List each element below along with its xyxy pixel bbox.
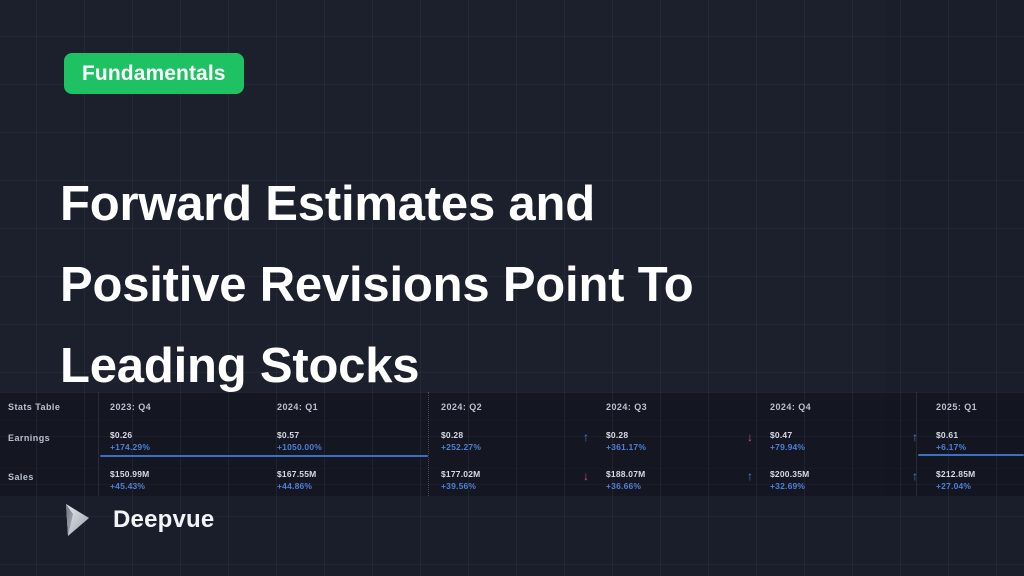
cell-change: +252.27% bbox=[441, 442, 481, 454]
cell-change: +44.86% bbox=[277, 481, 316, 493]
cell-value: $0.26 bbox=[110, 430, 150, 442]
column-divider bbox=[98, 392, 99, 496]
stats-top-divider bbox=[0, 392, 1024, 393]
cell-earnings-2024-q2: $0.28 +252.27% bbox=[441, 430, 481, 453]
arrow-down-icon-earnings-2024-q4: ↓ bbox=[747, 431, 753, 443]
arrow-up-icon-earnings-2025-q1: ↑ bbox=[912, 431, 918, 443]
cell-value: $167.55M bbox=[277, 469, 316, 481]
deepvue-paper-plane-icon bbox=[58, 500, 98, 540]
arrow-up-icon-earnings-2024-q3: ↑ bbox=[583, 431, 589, 443]
col-header-2024-q1: 2024: Q1 bbox=[277, 402, 318, 412]
cell-value: $150.99M bbox=[110, 469, 149, 481]
col-header-2024-q4: 2024: Q4 bbox=[770, 402, 811, 412]
cell-change: +361.17% bbox=[606, 442, 646, 454]
cell-value: $0.61 bbox=[936, 430, 966, 442]
cell-value: $0.57 bbox=[277, 430, 322, 442]
cell-value: $0.28 bbox=[606, 430, 646, 442]
page-title: Forward Estimates and Positive Revisions… bbox=[60, 164, 940, 407]
stats-table-title: Stats Table bbox=[8, 402, 60, 412]
stats-table-panel bbox=[0, 392, 1024, 496]
cell-change: +174.29% bbox=[110, 442, 150, 454]
cell-earnings-2024-q3: $0.28 +361.17% bbox=[606, 430, 646, 453]
col-header-2024-q2: 2024: Q2 bbox=[441, 402, 482, 412]
cell-change: +6.17% bbox=[936, 442, 966, 454]
cell-earnings-2024-q1: $0.57 +1050.00% bbox=[277, 430, 322, 453]
cell-sales-2024-q3: $188.07M +36.66% bbox=[606, 469, 645, 492]
cell-earnings-2025-q1: $0.61 +6.17% bbox=[936, 430, 966, 453]
cell-value: $188.07M bbox=[606, 469, 645, 481]
col-header-2025-q1: 2025: Q1 bbox=[936, 402, 977, 412]
cell-change: +39.56% bbox=[441, 481, 480, 493]
cell-change: +45.43% bbox=[110, 481, 149, 493]
cell-change: +32.69% bbox=[770, 481, 809, 493]
category-badge[interactable]: Fundamentals bbox=[64, 53, 244, 94]
cell-value: $0.28 bbox=[441, 430, 481, 442]
cell-sales-2023-q4: $150.99M +45.43% bbox=[110, 469, 149, 492]
row-label-sales: Sales bbox=[8, 472, 34, 482]
arrow-up-icon-sales-2024-q4: ↑ bbox=[747, 470, 753, 482]
col-header-2024-q3: 2024: Q3 bbox=[606, 402, 647, 412]
brand-name: Deepvue bbox=[113, 506, 214, 534]
cell-sales-2024-q2: $177.02M +39.56% bbox=[441, 469, 480, 492]
cell-change: +27.04% bbox=[936, 481, 975, 493]
category-badge-label: Fundamentals bbox=[82, 62, 226, 86]
cell-earnings-2023-q4: $0.26 +174.29% bbox=[110, 430, 150, 453]
cell-value: $200.35M bbox=[770, 469, 809, 481]
cell-value: $212.85M bbox=[936, 469, 975, 481]
cell-value: $0.47 bbox=[770, 430, 805, 442]
arrow-down-icon-sales-2024-q3: ↓ bbox=[583, 470, 589, 482]
arrow-up-icon-sales-2025-q1: ↑ bbox=[912, 470, 918, 482]
slide-canvas: Fundamentals Forward Estimates and Posit… bbox=[0, 0, 1024, 576]
col-header-2023-q4: 2023: Q4 bbox=[110, 402, 151, 412]
stats-grid-lines bbox=[0, 392, 1024, 496]
column-divider-dotted bbox=[428, 392, 429, 496]
cell-sales-2024-q1: $167.55M +44.86% bbox=[277, 469, 316, 492]
cell-value: $177.02M bbox=[441, 469, 480, 481]
cell-sales-2024-q4: $200.35M +32.69% bbox=[770, 469, 809, 492]
cell-change: +1050.00% bbox=[277, 442, 322, 454]
title-line-1: Forward Estimates and bbox=[60, 164, 940, 245]
title-line-2: Positive Revisions Point To bbox=[60, 245, 940, 326]
cell-change: +79.94% bbox=[770, 442, 805, 454]
cell-sales-2025-q1: $212.85M +27.04% bbox=[936, 469, 975, 492]
row-label-earnings: Earnings bbox=[8, 433, 50, 443]
cell-earnings-2024-q4: $0.47 +79.94% bbox=[770, 430, 805, 453]
brand-logo: Deepvue bbox=[58, 500, 214, 540]
cell-change: +36.66% bbox=[606, 481, 645, 493]
